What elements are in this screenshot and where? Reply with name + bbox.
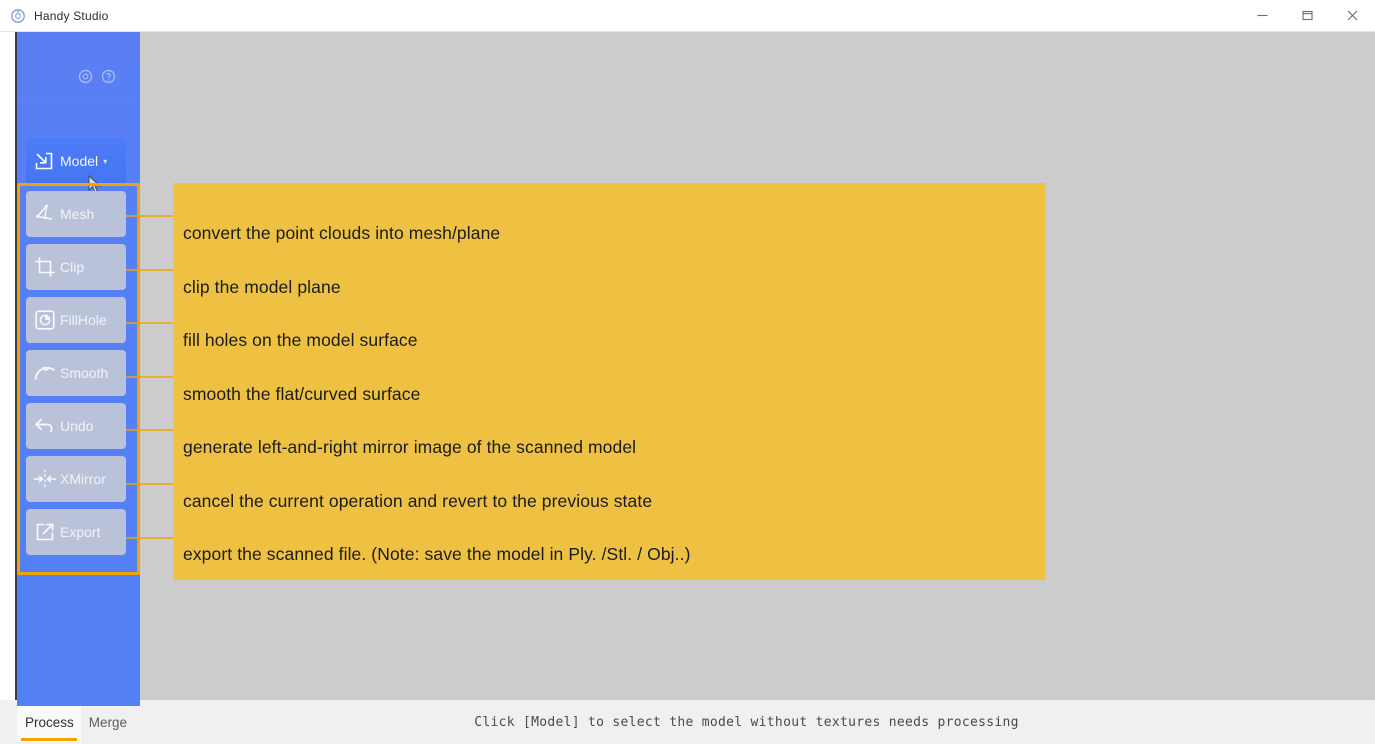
- minimize-icon[interactable]: [1240, 0, 1285, 31]
- smooth-curve-icon: [33, 361, 57, 385]
- sidebar-top-icons: [77, 65, 139, 87]
- import-model-icon: [33, 150, 55, 172]
- tool-label-fillhole: FillHole: [60, 312, 107, 328]
- tool-button-fillhole[interactable]: FillHole: [26, 297, 126, 343]
- app-window: Handy Studio: [0, 0, 1375, 744]
- tab-merge[interactable]: Merge: [81, 706, 134, 742]
- model-button[interactable]: Model ▾: [26, 138, 126, 184]
- annotation-line: fill holes on the model surface: [183, 314, 1045, 368]
- x-mirror-icon: [33, 467, 57, 491]
- settings-gear-icon[interactable]: [77, 68, 94, 85]
- status-bar: Click [Model] to select the model withou…: [140, 700, 1375, 744]
- tool-button-smooth[interactable]: Smooth: [26, 350, 126, 396]
- chevron-down-icon[interactable]: ▾: [103, 157, 107, 166]
- mesh-triangle-icon: [33, 202, 57, 226]
- status-message: Click [Model] to select the model withou…: [474, 715, 1019, 730]
- close-icon[interactable]: [1330, 0, 1375, 31]
- tool-button-mesh[interactable]: Mesh: [26, 191, 126, 237]
- annotation-line: smooth the flat/curved surface: [183, 368, 1045, 422]
- annotation-line: clip the model plane: [183, 261, 1045, 315]
- export-arrow-icon: [33, 520, 57, 544]
- tool-button-list: Mesh Clip FillHole: [26, 191, 126, 567]
- help-question-icon[interactable]: [100, 68, 117, 85]
- tool-label-clip: Clip: [60, 259, 84, 275]
- window-title: Handy Studio: [34, 9, 108, 23]
- tool-label-undo: Undo: [60, 418, 93, 434]
- tool-label-smooth: Smooth: [60, 365, 108, 381]
- tool-button-export[interactable]: Export: [26, 509, 126, 555]
- annotation-line: convert the point clouds into mesh/plane: [183, 207, 1045, 261]
- crop-clip-icon: [33, 255, 57, 279]
- tool-label-mesh: Mesh: [60, 206, 94, 222]
- tool-label-xmirror: XMirror: [60, 471, 106, 487]
- fill-hole-icon: [33, 308, 57, 332]
- app-logo-icon: [10, 8, 26, 24]
- bottom-tab-bar: Process Merge: [17, 706, 140, 744]
- annotation-panel: convert the point clouds into mesh/plane…: [173, 183, 1045, 580]
- maximize-restore-icon[interactable]: [1285, 0, 1330, 31]
- bottom-left-filler: [0, 700, 17, 744]
- annotation-line: cancel the current operation and revert …: [183, 475, 1045, 529]
- tool-button-clip[interactable]: Clip: [26, 244, 126, 290]
- undo-arrow-icon: [33, 414, 57, 438]
- annotation-line: export the scanned file. (Note: save the…: [183, 528, 1045, 582]
- model-button-label: Model: [60, 153, 98, 169]
- tool-label-export: Export: [60, 524, 100, 540]
- annotation-line: generate left-and-right mirror image of …: [183, 421, 1045, 475]
- title-bar: Handy Studio: [0, 0, 1375, 32]
- tool-button-undo[interactable]: Undo: [26, 403, 126, 449]
- tool-button-xmirror[interactable]: XMirror: [26, 456, 126, 502]
- tab-process[interactable]: Process: [17, 706, 81, 742]
